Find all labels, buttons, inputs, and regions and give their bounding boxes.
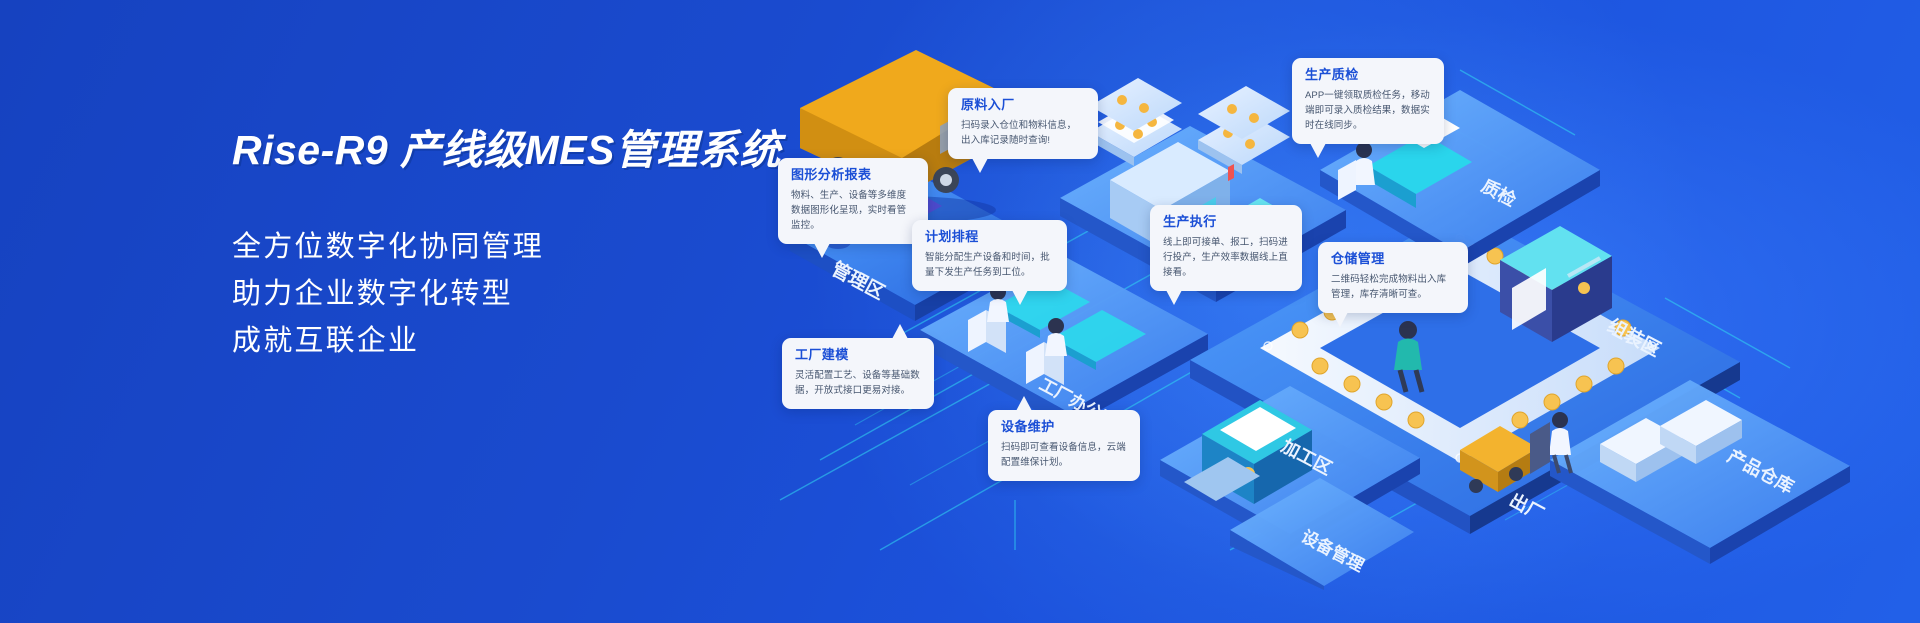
card-title-equip: 设备维护 [1001,419,1127,435]
hero-subtitle: 全方位数字化协同管理 助力企业数字化转型 成就互联企业 [232,224,852,366]
card-body-plan: 智能分配生产设备和时间，批量下发生产任务到工位。 [925,250,1054,280]
callout-card-planning[interactable]: 计划排程 智能分配生产设备和时间，批量下发生产任务到工位。 [912,220,1067,291]
card-tail-icon [1012,290,1028,305]
card-tail-icon [1310,143,1326,158]
card-tail-icon [972,158,988,173]
card-tail-icon [892,324,908,339]
card-title-store: 仓储管理 [1331,251,1455,267]
card-title-plan: 计划排程 [925,229,1054,245]
callout-card-graph[interactable]: 图形分析报表 物料、生产、设备等多维度数据图形化呈现，实时看管监控。 [778,158,928,244]
card-body-store: 二维码轻松完成物料出入库管理，库存清晰可查。 [1331,272,1455,302]
card-title-graph: 图形分析报表 [791,167,915,183]
card-tail-icon [814,243,830,258]
callout-card-factory-modeling[interactable]: 工厂建模 灵活配置工艺、设备等基础数据，开放式接口更易对接。 [782,338,934,409]
card-body-model: 灵活配置工艺、设备等基础数据，开放式接口更易对接。 [795,368,921,398]
card-tail-icon [1166,290,1182,305]
callout-card-equipment-maintenance[interactable]: 设备维护 扫码即可查看设备信息，云端配置维保计划。 [988,410,1140,481]
isometric-factory-scene: 管理区 工厂办公室 [760,30,1920,590]
hero-banner: Rise-R9 产线级MES管理系统 全方位数字化协同管理 助力企业数字化转型 … [0,0,1920,623]
callout-card-quality-check[interactable]: 生产质检 APP一键领取质检任务，移动端即可录入质检结果，数据实时在线同步。 [1292,58,1444,144]
card-body-graph: 物料、生产、设备等多维度数据图形化呈现，实时看管监控。 [791,188,915,233]
subtitle-line-3: 成就互联企业 [232,318,852,365]
callout-card-storage[interactable]: 仓储管理 二维码轻松完成物料出入库管理，库存清晰可查。 [1318,242,1468,313]
card-title-qc: 生产质检 [1305,67,1431,83]
callout-card-raw-material[interactable]: 原料入厂 扫码录入仓位和物料信息，出入库记录随时查询! [948,88,1098,159]
subtitle-line-1: 全方位数字化协同管理 [232,224,852,271]
card-body-qc: APP一键领取质检任务，移动端即可录入质检结果，数据实时在线同步。 [1305,88,1431,133]
card-tail-icon [1016,396,1032,411]
card-tail-icon [1332,312,1348,327]
card-title-model: 工厂建模 [795,347,921,363]
hero-copy: Rise-R9 产线级MES管理系统 全方位数字化协同管理 助力企业数字化转型 … [232,128,852,366]
subtitle-line-2: 助力企业数字化转型 [232,271,852,318]
card-body-equip: 扫码即可查看设备信息，云端配置维保计划。 [1001,440,1127,470]
card-body-exec: 线上即可接单、报工，扫码进行投产，生产效率数据线上直接看。 [1163,235,1289,280]
card-title-exec: 生产执行 [1163,214,1289,230]
page-title: Rise-R9 产线级MES管理系统 [232,128,852,174]
callout-card-execution[interactable]: 生产执行 线上即可接单、报工，扫码进行投产，生产效率数据线上直接看。 [1150,205,1302,291]
card-body-raw: 扫码录入仓位和物料信息，出入库记录随时查询! [961,118,1085,148]
card-title-raw: 原料入厂 [961,97,1085,113]
